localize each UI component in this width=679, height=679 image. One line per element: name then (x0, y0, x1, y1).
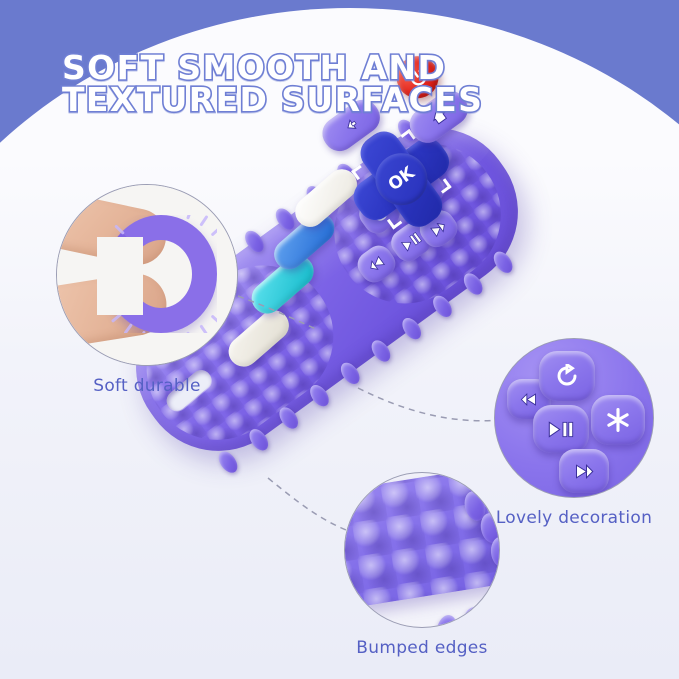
page-title-line-2: TEXTURED SURFACES (62, 84, 483, 116)
zoom-asterisk-button (591, 395, 645, 445)
forward-icon (429, 219, 449, 238)
callout-lovely-decoration: Lovely decoration (494, 338, 654, 498)
callout-label-lovely-decoration: Lovely decoration (494, 508, 654, 528)
asterisk-icon (605, 407, 631, 433)
dpad-corner-top-left (351, 165, 366, 180)
play-pause-icon (548, 421, 574, 438)
edge-nub (461, 606, 485, 628)
infographic-canvas: SOFT SMOOTH AND TEXTURED SURFACES (0, 0, 679, 679)
callout-label-bumped-edges: Bumped edges (344, 638, 500, 658)
edge-nub (215, 448, 241, 476)
rewind-icon (520, 393, 538, 406)
dpad-corner-bottom-right (436, 178, 451, 193)
callout-soft-durable: Soft durable (56, 184, 238, 366)
bumped-edges-image (344, 472, 500, 628)
dpad-corner-bottom-left (387, 214, 402, 229)
soft-durable-image (56, 184, 238, 366)
edge-nub (484, 588, 500, 620)
ok-button-label: OK (385, 163, 418, 195)
lovely-decoration-image (494, 338, 654, 498)
zoom-replay-button (539, 351, 595, 401)
inset-mask (97, 237, 143, 315)
zoom-forward-button (559, 449, 609, 493)
forward-icon (574, 464, 594, 479)
page-title: SOFT SMOOTH AND TEXTURED SURFACES (62, 52, 483, 116)
zoom-play-pause-button (533, 405, 589, 453)
callout-bumped-edges: Bumped edges (344, 472, 500, 628)
rewind-icon (366, 254, 386, 273)
callout-label-soft-durable: Soft durable (56, 376, 238, 396)
edge-nub (434, 613, 459, 628)
replay-icon (555, 364, 579, 388)
